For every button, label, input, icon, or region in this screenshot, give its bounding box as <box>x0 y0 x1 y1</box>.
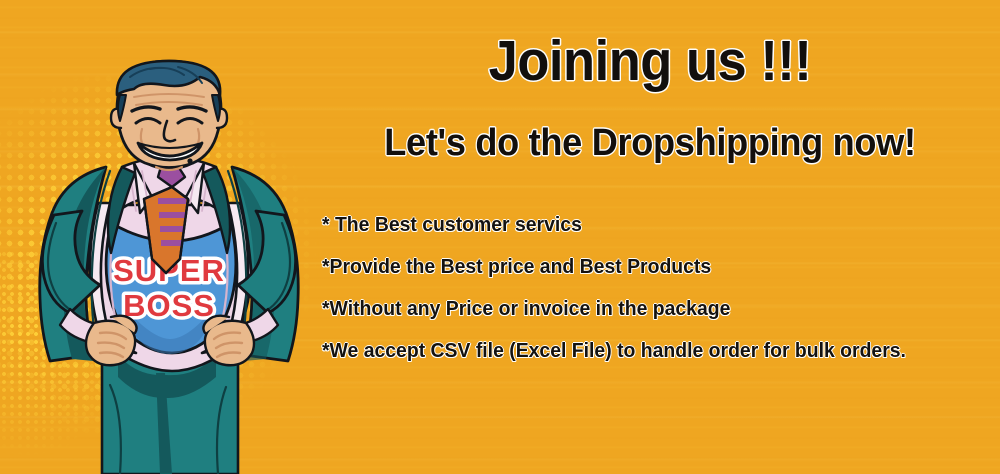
banner-bullet-list: * The Best customer servics *Provide the… <box>322 213 1000 363</box>
super-boss-illustration: SUPER SUPER BOSS BOSS <box>10 55 330 474</box>
banner-headline: Joining us !!! <box>328 30 972 92</box>
bullet-item-4: *We accept CSV file (Excel File) to hand… <box>322 339 980 363</box>
svg-text:BOSS: BOSS <box>123 288 215 323</box>
banner-text-column: Joining us !!! Let's do the Dropshipping… <box>300 0 1000 474</box>
promo-banner: SUPER SUPER BOSS BOSS <box>0 0 1000 474</box>
bullet-item-3: *Without any Price or invoice in the pac… <box>322 297 980 321</box>
bullet-item-1: * The Best customer servics <box>322 213 980 237</box>
bullet-item-2: *Provide the Best price and Best Product… <box>322 255 980 279</box>
banner-subheadline: Let's do the Dropshipping now! <box>318 120 983 166</box>
